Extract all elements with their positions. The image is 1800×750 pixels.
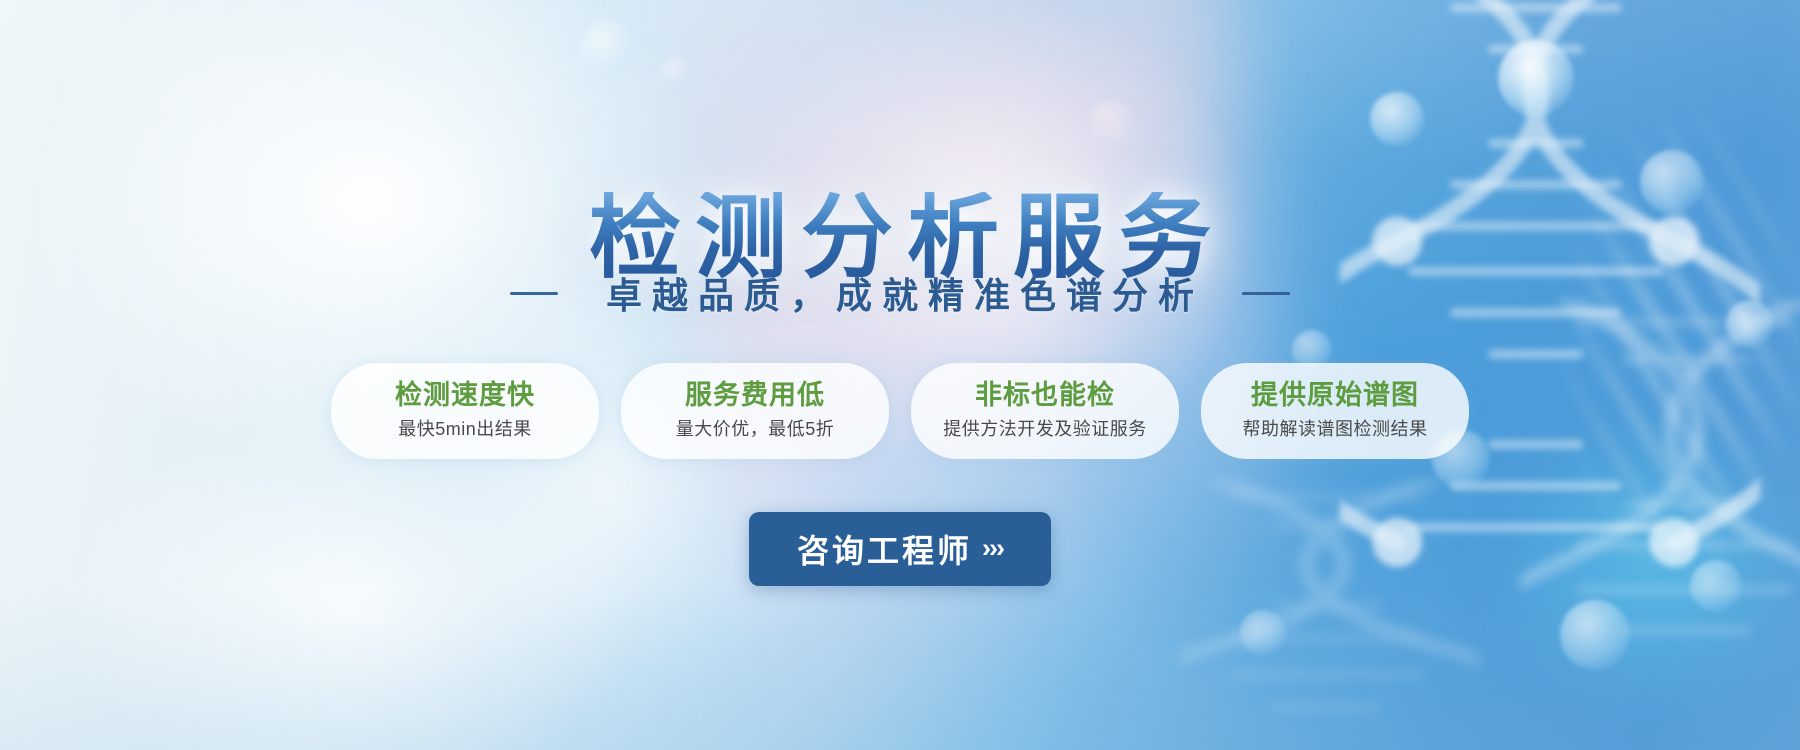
- promo-banner: 检测分析服务 卓越品质，成就精准色谱分析 检测速度快 最快5min出结果 服务费…: [0, 0, 1800, 750]
- banner-subtitle: 卓越品质，成就精准色谱分析: [596, 267, 1204, 319]
- feature-pill-nonstandard[interactable]: 非标也能检 提供方法开发及验证服务: [911, 363, 1179, 459]
- subtitle-dash-left-icon: [510, 292, 558, 295]
- feature-pill-subtitle: 量大价优，最低5折: [651, 418, 859, 441]
- subtitle-dash-right-icon: [1242, 292, 1290, 295]
- feature-pill-subtitle: 提供方法开发及验证服务: [941, 418, 1149, 441]
- chevron-right-triple-icon: ›››: [982, 535, 1003, 562]
- feature-pill-speed[interactable]: 检测速度快 最快5min出结果: [331, 363, 599, 459]
- feature-pill-price[interactable]: 服务费用低 量大价优，最低5折: [621, 363, 889, 459]
- feature-pill-subtitle: 帮助解读谱图检测结果: [1231, 418, 1439, 441]
- cta-container: 咨询工程师 ›››: [0, 512, 1800, 586]
- feature-pill-title: 提供原始谱图: [1231, 379, 1439, 413]
- banner-content: 检测分析服务 卓越品质，成就精准色谱分析 检测速度快 最快5min出结果 服务费…: [0, 0, 1800, 750]
- feature-pill-title: 检测速度快: [361, 379, 569, 413]
- feature-pill-subtitle: 最快5min出结果: [361, 418, 569, 441]
- feature-pill-list: 检测速度快 最快5min出结果 服务费用低 量大价优，最低5折 非标也能检 提供…: [0, 363, 1800, 459]
- feature-pill-title: 服务费用低: [651, 379, 859, 413]
- feature-pill-raw-spectra[interactable]: 提供原始谱图 帮助解读谱图检测结果: [1201, 363, 1469, 459]
- consult-engineer-button[interactable]: 咨询工程师 ›››: [749, 512, 1051, 586]
- banner-subtitle-row: 卓越品质，成就精准色谱分析: [0, 267, 1800, 319]
- feature-pill-title: 非标也能检: [941, 379, 1149, 413]
- consult-engineer-label: 咨询工程师: [797, 526, 972, 572]
